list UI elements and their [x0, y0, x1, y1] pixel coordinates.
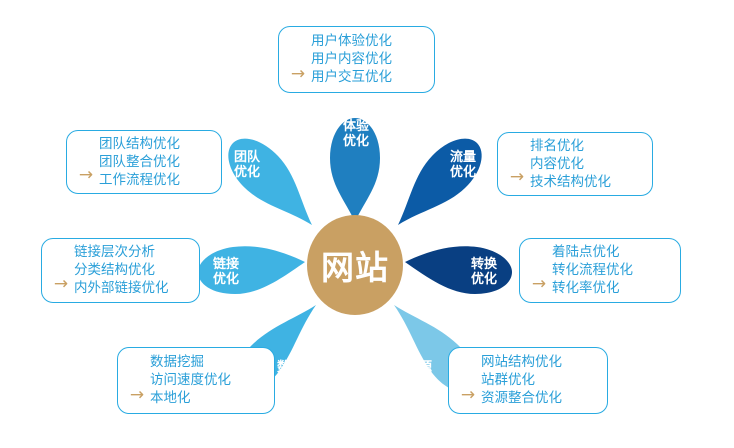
- info-lines-link: 链接层次分析 分类结构优化 内外部链接优化: [74, 244, 169, 297]
- info-line: 团队整合优化: [99, 154, 180, 171]
- arrow-column-conversion: →: [526, 239, 552, 302]
- info-line: 用户交互优化: [311, 69, 392, 86]
- info-lines-data: 数据挖掘 访问速度优化 本地化: [150, 354, 231, 407]
- info-line: 分类结构优化: [74, 262, 169, 279]
- info-lines-traffic: 排名优化 内容优化 技术结构优化: [530, 138, 611, 191]
- info-line: 着陆点优化: [552, 244, 633, 261]
- arrow-icon: →: [291, 66, 305, 83]
- info-line: 团队结构优化: [99, 136, 180, 153]
- petal-link[interactable]: [198, 246, 305, 294]
- info-lines-team: 团队结构优化 团队整合优化 工作流程优化: [99, 136, 180, 189]
- arrow-column-team: →: [73, 131, 99, 193]
- info-line: 资源整合优化: [481, 390, 562, 407]
- seo-hub-spoke-diagram: 体验 优化 团队 优化 流量 优化 链接 优化 转换 优化 数据 优化 资源 优…: [0, 0, 734, 448]
- info-line: 站群优化: [481, 372, 562, 389]
- arrow-icon: →: [461, 387, 475, 404]
- info-line: 链接层次分析: [74, 244, 169, 261]
- arrow-column-traffic: →: [504, 133, 530, 195]
- arrow-column-experience: →: [285, 27, 311, 92]
- info-box-team[interactable]: → 团队结构优化 团队整合优化 工作流程优化: [66, 130, 222, 194]
- info-box-experience[interactable]: → 用户体验优化 用户内容优化 用户交互优化: [278, 26, 435, 93]
- arrow-column-resource: →: [455, 348, 481, 413]
- center-node-label: 网站: [321, 241, 389, 289]
- arrow-icon: →: [510, 169, 524, 186]
- info-line: 数据挖掘: [150, 354, 231, 371]
- info-line: 用户体验优化: [311, 33, 392, 50]
- info-line: 用户内容优化: [311, 51, 392, 68]
- info-box-traffic[interactable]: → 排名优化 内容优化 技术结构优化: [497, 132, 653, 196]
- info-box-data[interactable]: → 数据挖掘 访问速度优化 本地化: [117, 347, 275, 414]
- info-line: 本地化: [150, 390, 231, 407]
- info-line: 工作流程优化: [99, 172, 180, 189]
- info-line: 内外部链接优化: [74, 280, 169, 297]
- center-node[interactable]: 网站: [307, 215, 403, 315]
- info-line: 网站结构优化: [481, 354, 562, 371]
- info-line: 转化率优化: [552, 280, 633, 297]
- info-line: 转化流程优化: [552, 262, 633, 279]
- arrow-column-data: →: [124, 348, 150, 413]
- info-lines-experience: 用户体验优化 用户内容优化 用户交互优化: [311, 33, 392, 86]
- arrow-icon: →: [532, 276, 546, 293]
- petal-conversion[interactable]: [405, 246, 512, 294]
- info-box-conversion[interactable]: → 着陆点优化 转化流程优化 转化率优化: [519, 238, 681, 303]
- arrow-icon: →: [79, 167, 93, 184]
- info-line: 排名优化: [530, 138, 611, 155]
- arrow-icon: →: [130, 387, 144, 404]
- petal-team[interactable]: [228, 139, 312, 225]
- info-line: 访问速度优化: [150, 372, 231, 389]
- arrow-icon: →: [54, 276, 68, 293]
- petal-traffic[interactable]: [398, 139, 482, 225]
- info-box-link[interactable]: → 链接层次分析 分类结构优化 内外部链接优化: [41, 238, 200, 303]
- petal-experience[interactable]: [330, 118, 380, 222]
- info-lines-resource: 网站结构优化 站群优化 资源整合优化: [481, 354, 562, 407]
- info-box-resource[interactable]: → 网站结构优化 站群优化 资源整合优化: [448, 347, 608, 414]
- arrow-column-link: →: [48, 239, 74, 302]
- info-lines-conversion: 着陆点优化 转化流程优化 转化率优化: [552, 244, 633, 297]
- info-line: 内容优化: [530, 156, 611, 173]
- info-line: 技术结构优化: [530, 174, 611, 191]
